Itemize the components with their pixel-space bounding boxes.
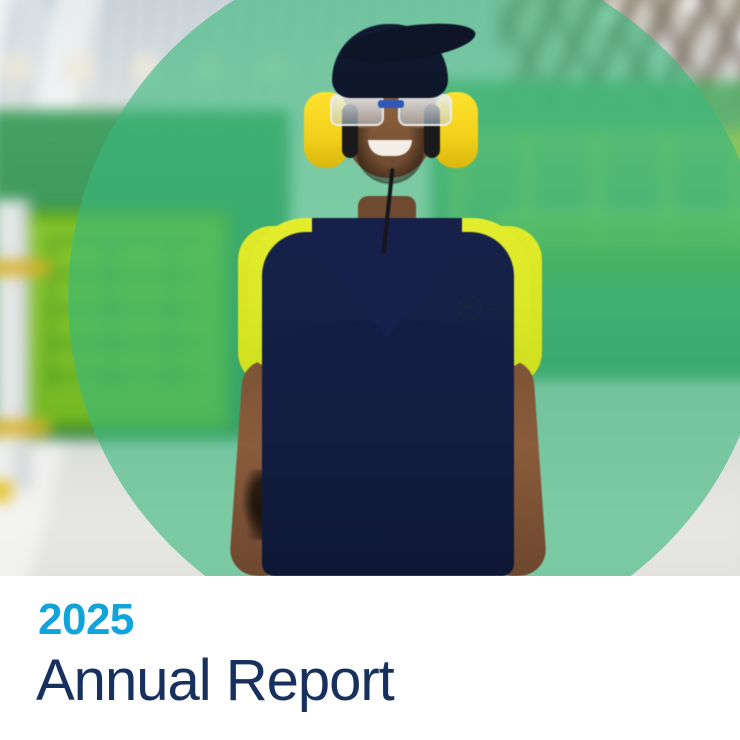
lens-right bbox=[398, 94, 452, 126]
cover-caption: 2025 Annual Report bbox=[0, 576, 740, 740]
lens-left bbox=[330, 94, 384, 126]
chest-logo: Smurfit Westrock bbox=[458, 292, 520, 324]
worker-figure: Smurfit Westrock bbox=[190, 0, 590, 576]
floor-marking bbox=[0, 480, 12, 502]
glasses-bridge bbox=[378, 100, 404, 108]
company-logo-text: Smurfit Westrock bbox=[486, 301, 520, 315]
report-year: 2025 bbox=[38, 598, 134, 642]
page-title: Annual Report bbox=[36, 652, 394, 710]
annual-report-cover: Smurfit Westrock 2025 Annual Report bbox=[0, 0, 740, 740]
company-mark-icon bbox=[458, 296, 482, 320]
safety-rail bbox=[0, 260, 50, 460]
cover-photo: Smurfit Westrock bbox=[0, 0, 740, 576]
